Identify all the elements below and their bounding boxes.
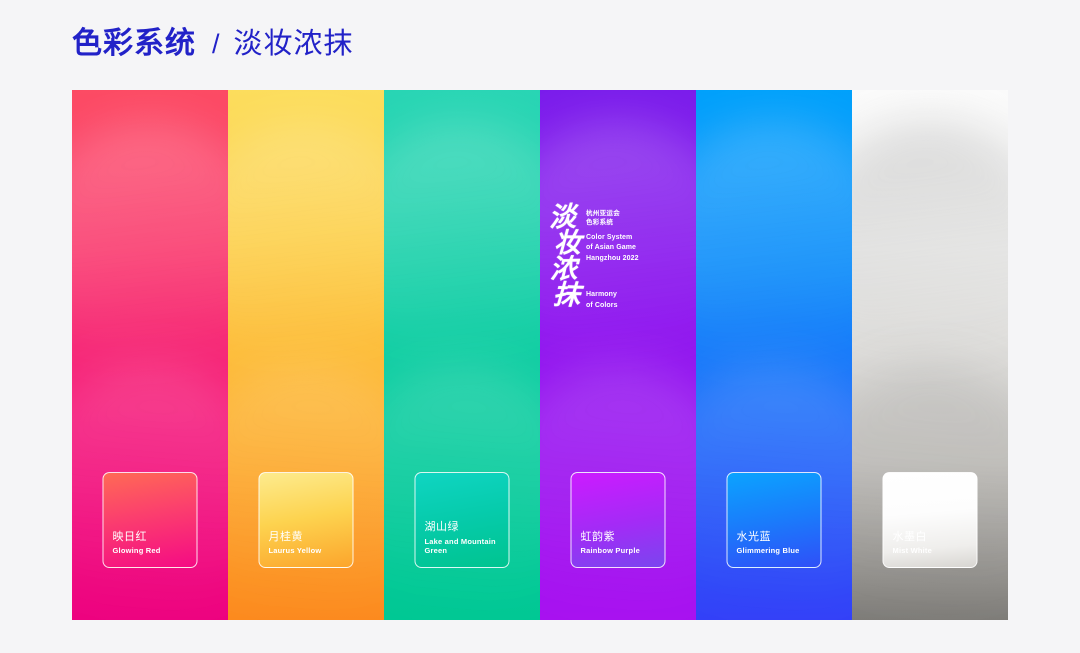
title-subtitle: 淡妆浓抹 <box>234 20 354 62</box>
swatch-name-en: Lake and Mountain Green <box>425 537 509 557</box>
swatch-card-blue[interactable]: 水光蓝 Glimmering Blue <box>727 472 822 568</box>
swatch-name-cn: 月桂黄 <box>269 531 353 545</box>
swatch-name-cn: 水光蓝 <box>737 531 821 545</box>
color-columns-strip: 映日红 Glowing Red 月桂黄 Laurus Yellow 湖山绿 La… <box>72 90 1008 620</box>
brand-en-line2: of Asian Game <box>586 243 639 254</box>
swatch-name-cn: 映日红 <box>113 531 197 545</box>
color-system-board: 色彩系统 / 淡妆浓抹 映日红 Glowing Red 月桂黄 Laurus Y… <box>0 0 1080 653</box>
calligraphy-logo: 淡 妆 浓 抹 <box>551 205 578 309</box>
title-separator: / <box>212 29 220 60</box>
page-title: 色彩系统 / 淡妆浓抹 <box>72 18 354 62</box>
swatch-name-en: Rainbow Purple <box>581 546 665 556</box>
swatch-card-purple[interactable]: 虹韵紫 Rainbow Purple <box>571 472 666 568</box>
swatch-name-en: Glowing Red <box>113 546 197 556</box>
swatch-card-white[interactable]: 水墨白 Mist White <box>883 472 978 568</box>
brand-cn-line2: 色彩系统 <box>586 218 639 227</box>
swatch-name-cn: 水墨白 <box>893 531 977 545</box>
brand-en-line3: Hangzhou 2022 <box>586 254 639 265</box>
color-column-yellow[interactable]: 月桂黄 Laurus Yellow <box>228 90 384 620</box>
title-main: 色彩系统 <box>72 18 196 62</box>
harmony-line2: of Colors <box>586 301 639 312</box>
swatch-name-en: Laurus Yellow <box>269 546 353 556</box>
swatch-name-cn: 虹韵紫 <box>581 531 665 545</box>
logo-char-4: 抹 <box>553 282 581 309</box>
harmony-line1: Harmony <box>586 290 639 301</box>
color-column-red[interactable]: 映日红 Glowing Red <box>72 90 228 620</box>
swatch-name-en: Mist White <box>893 546 977 556</box>
swatch-name-en: Glimmering Blue <box>737 546 821 556</box>
swatch-card-yellow[interactable]: 月桂黄 Laurus Yellow <box>259 472 354 568</box>
brand-en-line1: Color System <box>586 233 639 244</box>
color-column-blue[interactable]: 水光蓝 Glimmering Blue <box>696 90 852 620</box>
color-column-purple[interactable]: 淡 妆 浓 抹 杭州亚运会 色彩系统 Color System of Asian… <box>540 90 696 620</box>
swatch-card-red[interactable]: 映日红 Glowing Red <box>103 472 198 568</box>
brand-text-block: 杭州亚运会 色彩系统 Color System of Asian Game Ha… <box>586 205 639 311</box>
color-column-white[interactable]: 水墨白 Mist White <box>852 90 1008 620</box>
brand-lockup: 淡 妆 浓 抹 杭州亚运会 色彩系统 Color System of Asian… <box>551 205 639 311</box>
brand-cn-line1: 杭州亚运会 <box>586 209 639 218</box>
swatch-name-cn: 湖山绿 <box>425 521 509 535</box>
color-column-green[interactable]: 湖山绿 Lake and Mountain Green <box>384 90 540 620</box>
swatch-card-green[interactable]: 湖山绿 Lake and Mountain Green <box>415 472 510 568</box>
